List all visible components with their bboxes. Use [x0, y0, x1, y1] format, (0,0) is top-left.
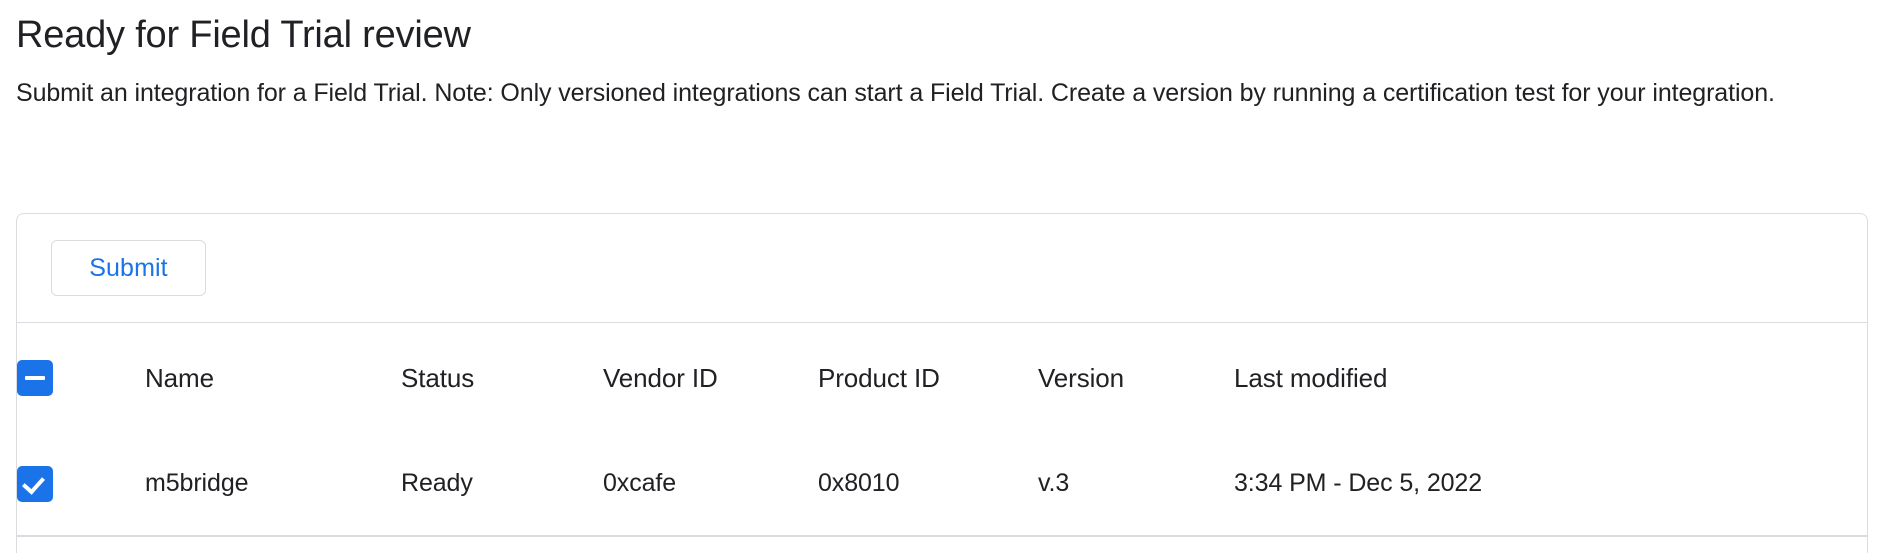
column-header-status[interactable]: Status	[401, 323, 603, 433]
submit-button[interactable]: Submit	[51, 240, 206, 296]
page-title: Ready for Field Trial review	[16, 0, 1868, 58]
integrations-table: Name Status Vendor ID Product ID Version…	[17, 323, 1867, 534]
table-row[interactable]: m5bridge Ready 0xcafe 0x8010 v.3 3:34 PM…	[17, 433, 1867, 534]
cell-last-modified: 3:34 PM - Dec 5, 2022	[1234, 433, 1867, 534]
select-all-cell	[17, 323, 145, 433]
table-header: Name Status Vendor ID Product ID Version…	[17, 323, 1867, 433]
table-body: m5bridge Ready 0xcafe 0x8010 v.3 3:34 PM…	[17, 433, 1867, 534]
cell-status: Ready	[401, 433, 603, 534]
field-trial-card: Submit Name	[16, 213, 1868, 553]
table-header-row: Name Status Vendor ID Product ID Version…	[17, 323, 1867, 433]
select-all-checkbox[interactable]	[17, 360, 53, 396]
cell-vendor-id: 0xcafe	[603, 433, 818, 534]
indeterminate-dash-icon	[25, 376, 45, 380]
row-select-cell	[17, 433, 145, 534]
checkmark-icon	[22, 471, 45, 495]
column-header-vendor-id[interactable]: Vendor ID	[603, 323, 818, 433]
column-header-name[interactable]: Name	[145, 323, 401, 433]
cell-version: v.3	[1038, 433, 1234, 534]
column-header-version[interactable]: Version	[1038, 323, 1234, 433]
column-header-last-modified[interactable]: Last modified	[1234, 323, 1867, 433]
row-bottom-divider	[17, 536, 1867, 537]
row-select-checkbox[interactable]	[17, 466, 53, 502]
page-description: Submit an integration for a Field Trial.…	[16, 58, 1868, 112]
cell-name: m5bridge	[145, 433, 401, 534]
page-root: Ready for Field Trial review Submit an i…	[0, 0, 1884, 550]
column-header-product-id[interactable]: Product ID	[818, 323, 1038, 433]
card-toolbar: Submit	[17, 214, 1867, 322]
cell-product-id: 0x8010	[818, 433, 1038, 534]
